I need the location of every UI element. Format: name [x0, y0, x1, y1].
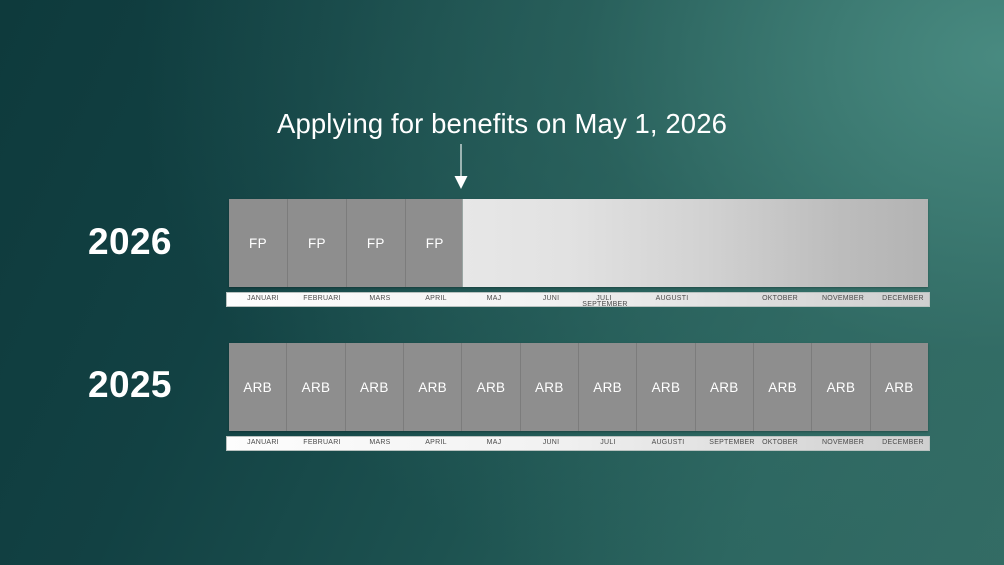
future-period-block-2026: [462, 199, 928, 287]
month-label: JULI: [586, 439, 630, 446]
timeline-cell[interactable]: ARB: [754, 343, 812, 431]
month-label: MAJ: [472, 439, 516, 446]
year-label-2025: 2025: [88, 364, 208, 406]
cell-label: ARB: [360, 380, 389, 395]
timeline-cell[interactable]: FP: [229, 199, 288, 287]
month-label: MARS: [355, 295, 405, 302]
cell-label: FP: [426, 236, 444, 251]
month-label: AUGUSTI: [643, 295, 701, 302]
timeline-cell[interactable]: ARB: [462, 343, 520, 431]
timeline-cell[interactable]: ARB: [637, 343, 695, 431]
month-label: NOVEMBER: [810, 439, 876, 446]
timeline-cell[interactable]: FP: [347, 199, 406, 287]
cell-label: ARB: [535, 380, 564, 395]
month-label: NOVEMBER: [810, 295, 876, 302]
cell-label: ARB: [768, 380, 797, 395]
month-label: SEPTEMBER: [568, 301, 642, 307]
cell-label: FP: [249, 236, 267, 251]
timeline-cell[interactable]: ARB: [521, 343, 579, 431]
month-label: MAJ: [472, 295, 516, 302]
month-label: OKTOBER: [751, 439, 809, 446]
timeline-row-2025: ARB ARB ARB ARB ARB ARB ARB ARB ARB ARB …: [226, 343, 930, 451]
cell-label: ARB: [710, 380, 739, 395]
timeline-bar-2026: FP FP FP FP: [229, 199, 928, 287]
month-strip-2025: JANUARI FEBRUARI MARS APRIL MAJ JUNI JUL…: [226, 436, 930, 451]
cell-label: ARB: [885, 380, 914, 395]
month-label: JUNI: [529, 439, 573, 446]
month-label: MARS: [355, 439, 405, 446]
month-label: AUGUSTI: [639, 439, 697, 446]
timeline-cell[interactable]: FP: [288, 199, 347, 287]
cell-label: ARB: [593, 380, 622, 395]
headline-text: Applying for benefits on May 1, 2026: [0, 108, 1004, 140]
month-label: JUNI: [529, 295, 573, 302]
timeline-cell[interactable]: ARB: [346, 343, 404, 431]
month-label: JANUARI: [235, 439, 291, 446]
cell-label: ARB: [243, 380, 272, 395]
month-label: FEBRUARI: [291, 295, 353, 302]
month-label: JANUARI: [235, 295, 291, 302]
timeline-cell[interactable]: ARB: [579, 343, 637, 431]
cell-label: ARB: [302, 380, 331, 395]
month-label: FEBRUARI: [291, 439, 353, 446]
timeline-row-2026: FP FP FP FP JANUARI FEBRUARI MARS APRIL …: [226, 199, 930, 307]
timeline-cell[interactable]: ARB: [696, 343, 754, 431]
cell-label: ARB: [418, 380, 447, 395]
month-label: APRIL: [411, 295, 461, 302]
month-label: DECEMBER: [872, 295, 930, 302]
annotation-arrow-icon: [452, 144, 470, 192]
slide-canvas: Applying for benefits on May 1, 2026 202…: [0, 0, 1004, 565]
timeline-cell[interactable]: ARB: [229, 343, 287, 431]
month-label: OKTOBER: [751, 295, 809, 302]
timeline-bar-2025: ARB ARB ARB ARB ARB ARB ARB ARB ARB ARB …: [229, 343, 928, 431]
month-label: DECEMBER: [872, 439, 930, 446]
cell-label: FP: [308, 236, 326, 251]
timeline-cell[interactable]: ARB: [404, 343, 462, 431]
cell-label: ARB: [652, 380, 681, 395]
year-label-2026: 2026: [88, 221, 208, 263]
cell-label: ARB: [827, 380, 856, 395]
timeline-cell[interactable]: ARB: [287, 343, 345, 431]
timeline-cell[interactable]: ARB: [871, 343, 928, 431]
cell-label: FP: [367, 236, 385, 251]
cell-label: ARB: [477, 380, 506, 395]
month-strip-2026: JANUARI FEBRUARI MARS APRIL MAJ JUNI JUL…: [226, 292, 930, 307]
month-label: APRIL: [411, 439, 461, 446]
timeline-cell[interactable]: ARB: [812, 343, 870, 431]
timeline-cell[interactable]: FP: [406, 199, 465, 287]
